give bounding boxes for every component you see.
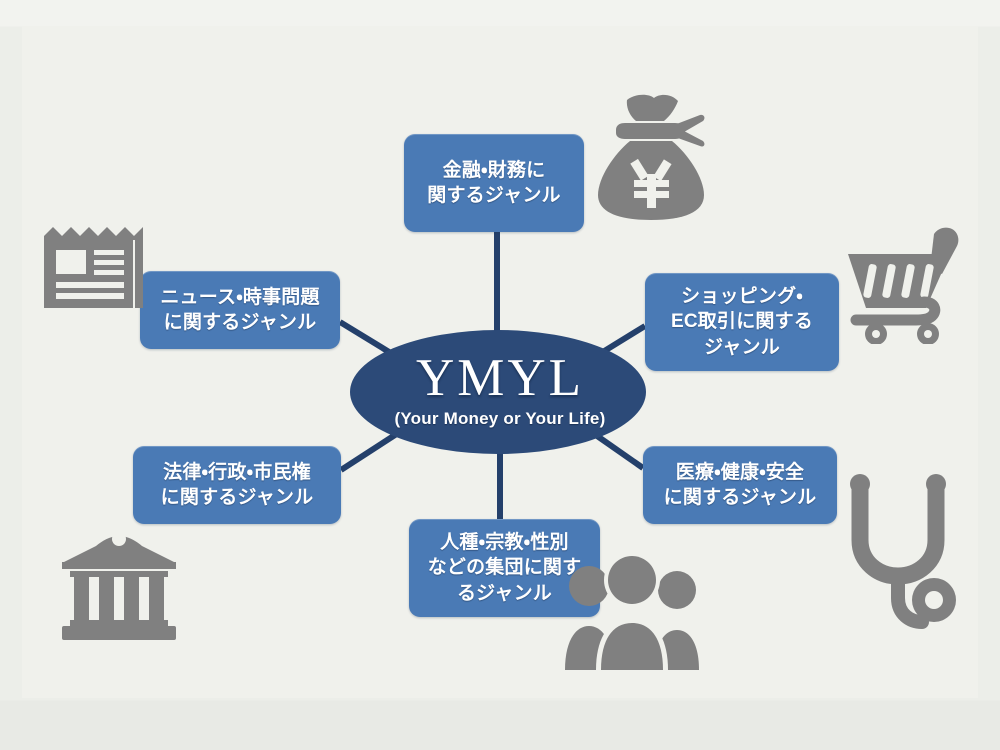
stethoscope-icon <box>844 472 962 638</box>
node-medical[interactable]: 医療・健康・安全 に関するジャンル <box>643 446 837 524</box>
node-shopping-label: ショッピング・ EC取引に関する ジャンル <box>671 284 813 359</box>
center-ellipse <box>350 330 646 454</box>
node-legal[interactable]: 法律・行政・市民権 に関するジャンル <box>133 446 341 524</box>
money-bag-yen-icon <box>592 92 710 222</box>
node-groups-label: 人種・宗教・性別 などの集団に関す るジャンル <box>428 530 582 605</box>
newspaper-icon <box>40 222 160 314</box>
people-group-icon <box>563 548 703 670</box>
node-legal-label: 法律・行政・市民権 に関するジャンル <box>161 460 314 510</box>
shopping-cart-icon <box>846 218 972 344</box>
node-medical-label: 医療・健康・安全 に関するジャンル <box>664 460 817 510</box>
node-finance[interactable]: 金融・財務に 関するジャンル <box>404 134 584 232</box>
diagram-canvas: YMYL (Your Money or Your Life) 金融・財務に 関す… <box>0 0 1000 750</box>
node-finance-label: 金融・財務に 関するジャンル <box>427 158 560 208</box>
government-building-icon <box>58 534 180 644</box>
node-news[interactable]: ニュース・時事問題 に関するジャンル <box>140 271 340 349</box>
node-news-label: ニュース・時事問題 に関するジャンル <box>160 285 319 335</box>
node-shopping[interactable]: ショッピング・ EC取引に関する ジャンル <box>645 273 839 371</box>
